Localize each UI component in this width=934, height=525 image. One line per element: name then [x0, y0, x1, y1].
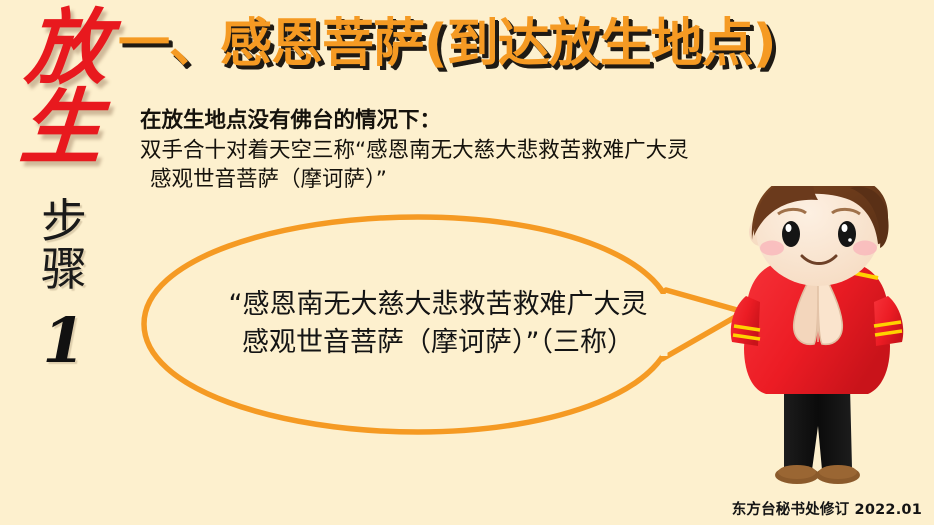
instruction-paragraph: 在放生地点没有佛台的情况下： 双手合十对着天空三称“感恩南无大慈大悲救苦救难广大… — [140, 106, 840, 195]
character-cheek-right — [853, 241, 877, 256]
brand-char-fang: 放 — [6, 8, 128, 88]
page-title: 一、感恩菩萨(到达放生地点) — [118, 16, 930, 72]
brand-char-sheng: 生 — [0, 88, 122, 168]
speech-bubble: “感恩南无大慈大悲救苦救难广大灵 感观世音菩萨（摩诃萨）”（三称） — [128, 212, 748, 437]
character-svg — [700, 186, 934, 506]
step-number: 1 — [6, 310, 122, 372]
slide-canvas: 放 生 步 骤 1 一、感恩菩萨(到达放生地点) 在放生地点没有佛台的情况下： … — [0, 0, 934, 525]
character-cheek-left — [760, 241, 784, 256]
instruction-lead: 在放生地点没有佛台的情况下： — [140, 106, 840, 136]
step-label-buzhou: 步 骤 — [6, 198, 122, 294]
character-illustration — [700, 186, 934, 506]
speech-bubble-text: “感恩南无大慈大悲救苦救难广大灵 感观世音菩萨（摩诃萨）”（三称） — [158, 286, 718, 363]
step-label-char-bu: 步 — [6, 198, 122, 246]
bubble-line-1: “感恩南无大慈大悲救苦救难广大灵 — [158, 286, 718, 324]
sidebar-vertical-band: 放 生 步 骤 1 — [0, 0, 128, 525]
character-legs — [784, 386, 852, 470]
step-label-char-zhou: 骤 — [6, 246, 122, 294]
brand-title-fangsheng: 放 生 — [0, 8, 127, 169]
footer-credit: 东方台秘书处修订 2022.01 — [732, 498, 922, 519]
bubble-line-2: 感观世音菩萨（摩诃萨）”（三称） — [158, 324, 718, 362]
instruction-line-1: 双手合十对着天空三称“感恩南无大慈大悲救苦救难广大灵 — [140, 136, 840, 166]
character-shoes — [775, 465, 860, 484]
